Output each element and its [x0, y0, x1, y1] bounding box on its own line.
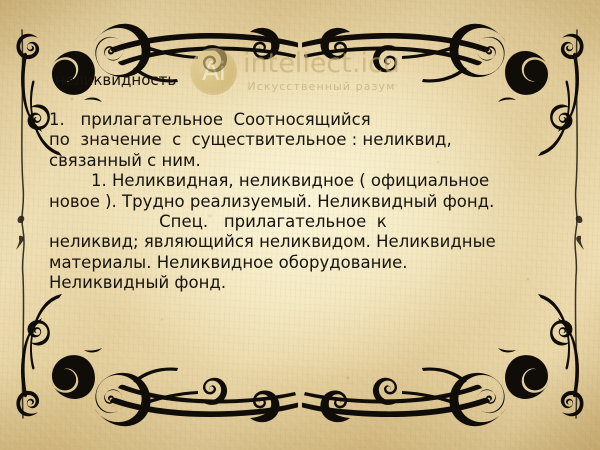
- definition-line: Неликвидный фонд.: [49, 273, 554, 293]
- ornament-bottom-left: [2, 294, 298, 446]
- slide-canvas: Ai intellect.icu Искусственный разум нел…: [0, 0, 600, 450]
- watermark: Ai intellect.icu Искусственный разум: [190, 48, 400, 95]
- definition-line: материалы. Неликвидное оборудование.: [49, 253, 554, 273]
- definition-line: по значение с существительное : неликвид…: [49, 130, 554, 150]
- definition-line: 1. Неликвидная, неликвидное ( официально…: [49, 171, 554, 191]
- headword: неликвидность: [55, 72, 176, 89]
- definition-line: Спец. прилагательное к: [49, 212, 554, 232]
- ornament-bottom-right: [302, 294, 598, 446]
- watermark-subtitle: Искусственный разум: [243, 80, 400, 93]
- definition-line: новое ). Трудно реализуемый. Неликвидный…: [49, 192, 554, 212]
- definition-line: неликвид; являющийся неликвидом. Неликви…: [49, 232, 554, 252]
- watermark-title: intellect.icu: [243, 50, 400, 77]
- definition-line: связанный с ним.: [49, 151, 554, 171]
- definition-line: 1. прилагательное Соотносящийся: [49, 110, 554, 130]
- ai-logo-icon: Ai: [190, 48, 237, 95]
- watermark-text-block: intellect.icu Искусственный разум: [243, 50, 400, 93]
- definition-body: 1. прилагательное Соотносящийся по значе…: [49, 110, 554, 294]
- ai-logo-text: Ai: [202, 59, 225, 85]
